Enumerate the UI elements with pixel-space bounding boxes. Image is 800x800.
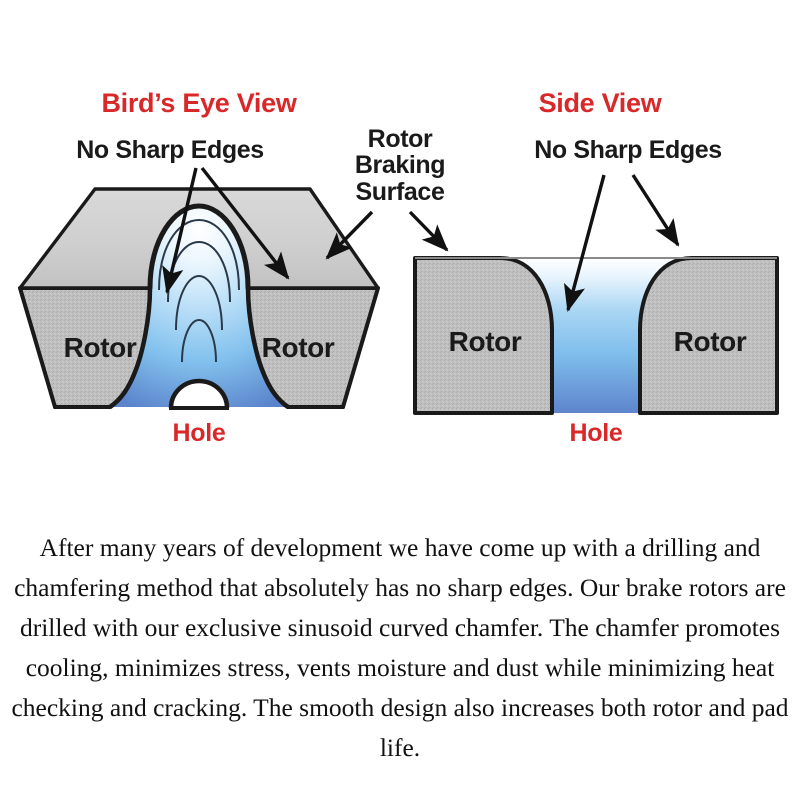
birds-eye-hole-label: Hole — [149, 419, 249, 448]
diagrams-canvas — [0, 0, 800, 520]
rotor-braking-surface-line-1: Rotor — [368, 125, 433, 153]
birds-eye-rotor-label-right: Rotor — [243, 333, 353, 362]
birds-eye-diagram — [20, 168, 378, 408]
birds-eye-rotor-label-left: Rotor — [45, 333, 155, 362]
arrow-side-no-sharp-edges-right — [633, 175, 678, 245]
rotor-braking-surface-line-2: Braking — [355, 151, 445, 179]
rotor-chamfer-infographic: Bird’s Eye View No Sharp Edges Rotor Bra… — [0, 0, 800, 800]
birds-eye-no-sharp-edges-label: No Sharp Edges — [30, 137, 310, 163]
side-view-title: Side View — [500, 88, 700, 119]
rotor-braking-surface-line-3: Surface — [356, 178, 445, 206]
arrow-rotor-braking-surface-right — [410, 212, 447, 250]
rotor-braking-surface-callout: Rotor Braking Surface — [330, 126, 470, 205]
description-paragraph: After many years of development we have … — [8, 528, 792, 768]
side-view-diagram — [410, 175, 777, 413]
side-view-rotor-label-right: Rotor — [655, 327, 765, 356]
side-view-rotor-label-left: Rotor — [430, 327, 540, 356]
birds-eye-view-title: Bird’s Eye View — [74, 88, 324, 119]
side-view-hole-label: Hole — [546, 419, 646, 448]
side-view-no-sharp-edges-label: No Sharp Edges — [488, 137, 768, 163]
